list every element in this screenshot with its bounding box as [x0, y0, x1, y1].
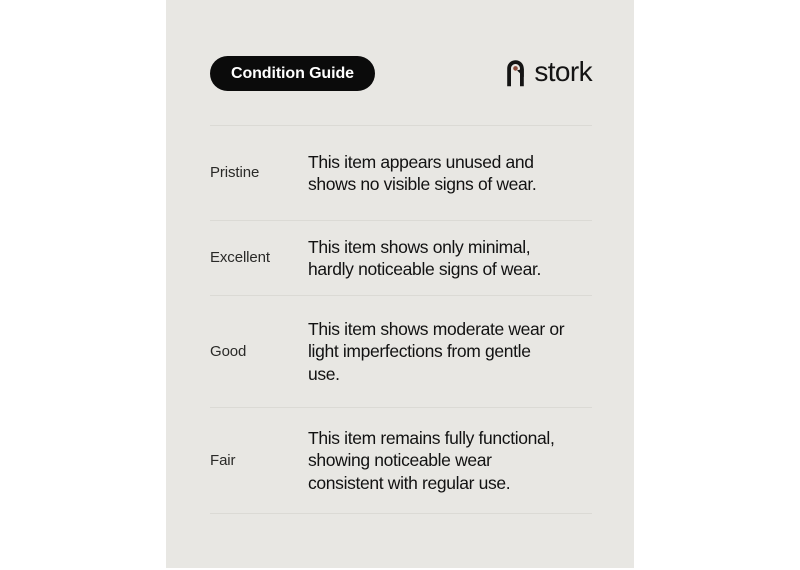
- table-row: Good This item shows moderate wear or li…: [210, 296, 592, 407]
- condition-guide-card: Condition Guide stork Pristine This item…: [166, 0, 634, 568]
- card-header: Condition Guide stork: [210, 56, 592, 92]
- stork-arch-logo-icon: [504, 57, 527, 87]
- brand-lockup: stork: [504, 57, 592, 87]
- table-row: Excellent This item shows only minimal, …: [210, 221, 592, 295]
- screenshot-canvas: Condition Guide stork Pristine This item…: [0, 0, 800, 570]
- condition-description: This item appears unused and shows no vi…: [308, 151, 592, 196]
- table-row: Pristine This item appears unused and sh…: [210, 126, 592, 220]
- condition-guide-badge: Condition Guide: [210, 56, 375, 91]
- table-row: Fair This item remains fully functional,…: [210, 408, 592, 513]
- condition-table: Pristine This item appears unused and sh…: [210, 125, 592, 514]
- condition-label: Pristine: [210, 163, 308, 183]
- condition-description: This item remains fully functional, show…: [308, 427, 592, 495]
- table-divider-bottom: [210, 513, 592, 514]
- condition-description: This item shows only minimal, hardly not…: [308, 236, 592, 281]
- brand-wordmark: stork: [534, 57, 592, 87]
- condition-label: Good: [210, 342, 308, 362]
- condition-label: Fair: [210, 451, 308, 471]
- condition-description: This item shows moderate wear or light i…: [308, 318, 592, 386]
- condition-label: Excellent: [210, 248, 308, 268]
